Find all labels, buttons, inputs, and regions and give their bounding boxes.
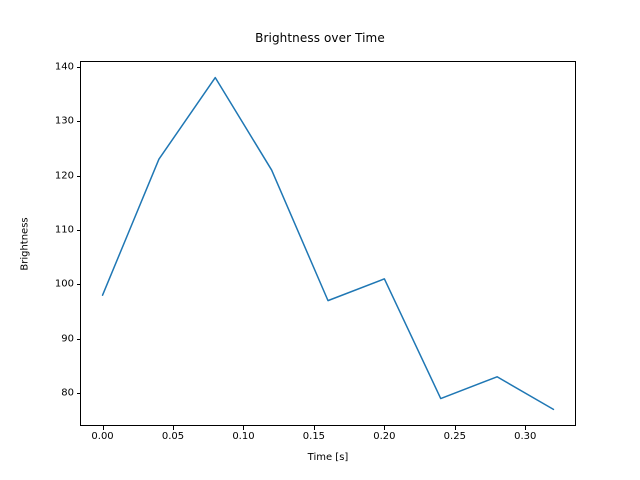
- y-tick-label: 130: [55, 116, 74, 127]
- series-line-brightness: [103, 78, 554, 410]
- x-tick-label: 0.25: [444, 431, 466, 442]
- chart-figure: Brightness over Time Brightness 80901001…: [0, 0, 640, 480]
- y-axis-tick-labels: 8090100110120130140: [30, 61, 74, 426]
- y-tick-label: 140: [55, 61, 74, 72]
- y-tick-label: 100: [55, 279, 74, 290]
- line-series-svg: [80, 61, 576, 426]
- y-tick-label: 80: [61, 388, 74, 399]
- x-axis-label: Time [s]: [80, 452, 576, 463]
- x-tick-label: 0.15: [303, 431, 325, 442]
- x-tick-label: 0.10: [232, 431, 254, 442]
- x-axis-tick-labels: 0.000.050.100.150.200.250.30: [80, 426, 576, 444]
- x-tick-label: 0.05: [162, 431, 184, 442]
- y-axis-label-text: Brightness: [20, 217, 31, 270]
- y-tick-label: 120: [55, 170, 74, 181]
- plot-area: [80, 61, 576, 426]
- chart-title: Brightness over Time: [0, 31, 640, 45]
- x-tick-label: 0.30: [514, 431, 536, 442]
- y-tick-label: 110: [55, 224, 74, 235]
- x-tick-label: 0.00: [91, 431, 113, 442]
- x-tick-label: 0.20: [373, 431, 395, 442]
- y-tick-label: 90: [61, 333, 74, 344]
